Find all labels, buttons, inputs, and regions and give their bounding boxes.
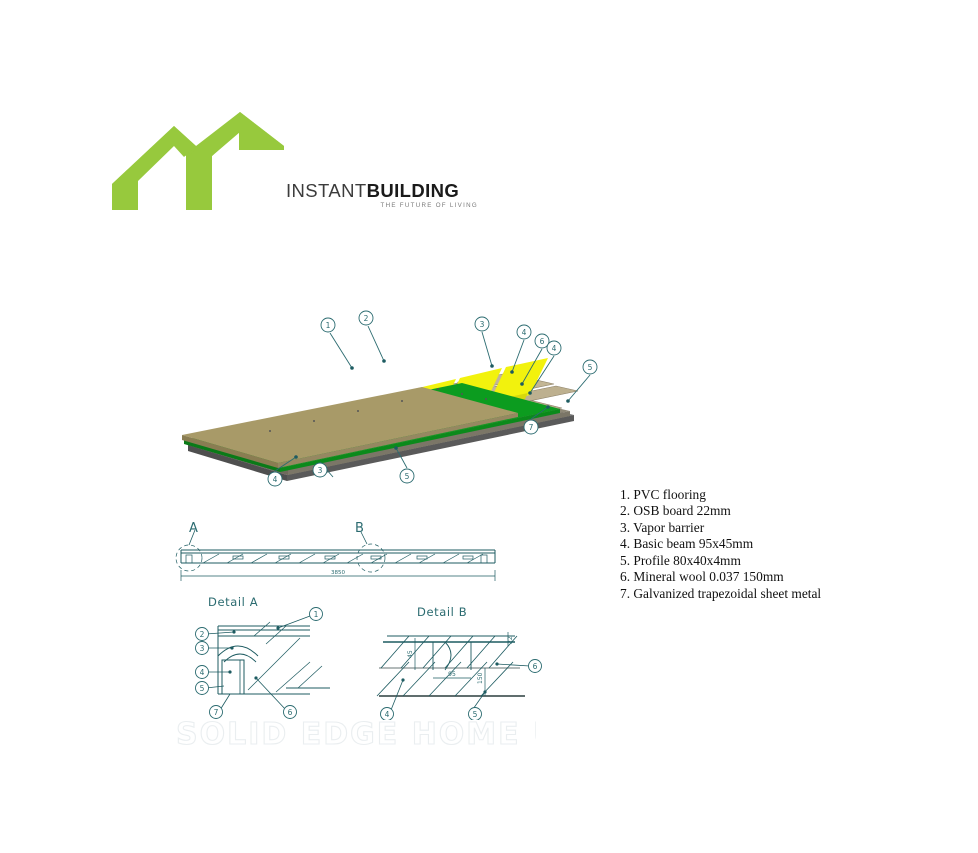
company-logo: INSTANTBUILDING THE FUTURE OF LIVING [108,112,378,212]
parts-legend: 1. PVC flooring 2. OSB board 22mm 3. Vap… [620,487,835,602]
callout-number: 3 [318,466,323,475]
detail-marker-b: B [355,521,385,572]
dimension-label-overall: 3850 [331,570,345,576]
isometric-floor-panel-view: 12346457435 [170,305,620,510]
callout-number: 4 [552,344,557,353]
callout-bubble-1: 1 [310,608,323,621]
panel-section-body [181,550,495,563]
callout-number: 2 [200,630,205,639]
watermark-text: SOLID EDGE HOME USE [176,717,536,752]
marker-label-a: A [189,521,198,536]
legend-item: 5. Profile 80x40x4mm [620,553,835,569]
callout-bubble-4: 4 [547,341,561,355]
legend-item: 2. OSB board 22mm [620,503,835,519]
callout-number: 6 [540,337,545,346]
callout-bubble-5: 5 [196,682,209,695]
detail-b-title: Detail B [417,605,467,619]
marker-label-b: B [355,521,364,536]
dimension-45: 45 [407,650,414,658]
callout-number: 1 [314,610,319,619]
detail-b-callouts [391,662,530,712]
logo-word-instant: INSTANT [286,180,367,201]
callout-number: 2 [364,314,369,323]
legend-item: 1. PVC flooring [620,487,835,503]
callout-number: 6 [533,662,538,671]
callout-bubble-2: 2 [196,628,209,641]
detail-b-geometry [377,636,525,696]
callout-number: 3 [480,320,485,329]
dimension-22: 22 [507,636,514,644]
callout-number: 7 [529,423,534,432]
callout-bubble-3: 3 [475,317,489,331]
callout-number: 1 [326,321,331,330]
overall-dimension: 3850 [181,570,495,581]
callout-number: 4 [522,328,527,337]
callout-bubble-2: 2 [359,311,373,325]
callout-number: 5 [200,684,205,693]
callout-number: 5 [588,363,593,372]
detail-a-title: Detail A [208,595,258,609]
detail-a-bubbles: 1234567 [196,608,323,719]
section-elevation-view: A B 3850 [175,520,515,590]
callout-bubble-3: 3 [196,642,209,655]
callout-bubble-4: 4 [196,666,209,679]
legend-item: 6. Mineral wool 0.037 150mm [620,569,835,585]
dimension-150: 150 [477,672,484,684]
legend-item: 3. Vapor barrier [620,520,835,536]
callout-bubble-1: 1 [321,318,335,332]
callout-bubble-5: 5 [400,469,414,483]
callout-bubble-7: 7 [524,420,538,434]
callout-bubble-6: 6 [529,660,542,673]
detail-a-view: Detail A [190,592,355,720]
logo-word-building: BUILDING [367,180,460,201]
callout-bubble-5: 5 [583,360,597,374]
callout-bubble-4: 4 [268,472,282,486]
dimension-95: 95 [448,671,456,678]
detail-b-view: Detail B [375,592,550,720]
solid-edge-watermark: SOLID EDGE HOME USE [176,716,536,752]
legend-item: 7. Galvanized trapezoidal sheet metal [620,586,835,602]
logo-tagline: THE FUTURE OF LIVING [286,202,478,209]
callout-number: 5 [405,472,410,481]
callout-number: 4 [273,475,278,484]
callout-bubble-4: 4 [517,325,531,339]
callout-number: 3 [200,644,205,653]
callout-number: 4 [200,668,205,677]
drawing-sheet: INSTANTBUILDING THE FUTURE OF LIVING [0,0,978,853]
logo-wordmark: INSTANTBUILDING [286,180,459,202]
callout-bubble-3: 3 [313,463,327,477]
legend-item: 4. Basic beam 95x45mm [620,536,835,552]
